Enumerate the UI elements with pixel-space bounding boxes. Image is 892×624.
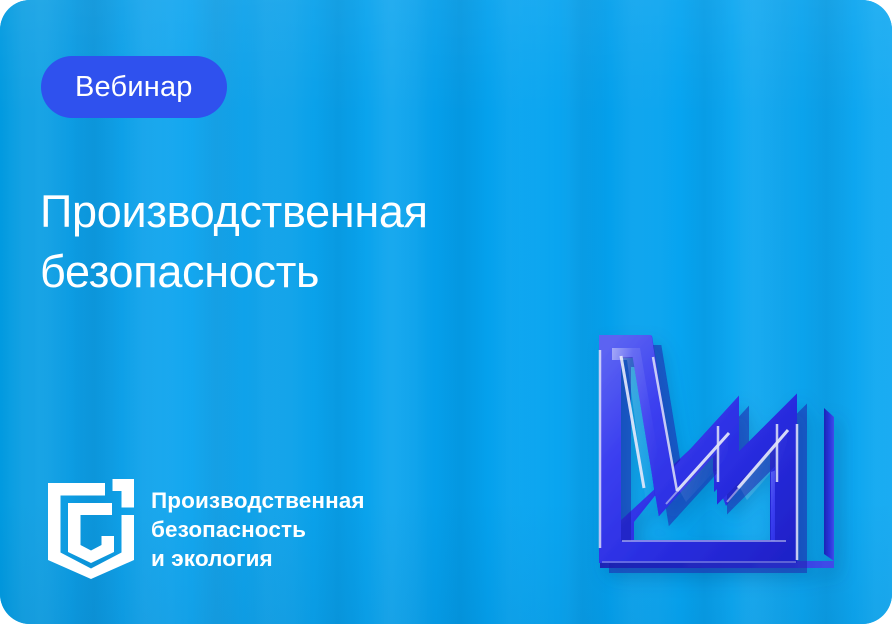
factory-outline-3d-icon bbox=[582, 316, 850, 588]
brand-name: Производственная безопасность и экология bbox=[151, 479, 365, 573]
page-title: Производственная безопасность bbox=[40, 182, 600, 301]
shield-c-logo-icon bbox=[48, 479, 134, 579]
webinar-badge[interactable]: Вебинар bbox=[41, 56, 227, 118]
webinar-badge-label: Вебинар bbox=[75, 73, 193, 102]
webinar-promo-card: Вебинар Производственная безопасность Пр… bbox=[0, 0, 892, 624]
brand-lockup: Производственная безопасность и экология bbox=[48, 479, 365, 579]
